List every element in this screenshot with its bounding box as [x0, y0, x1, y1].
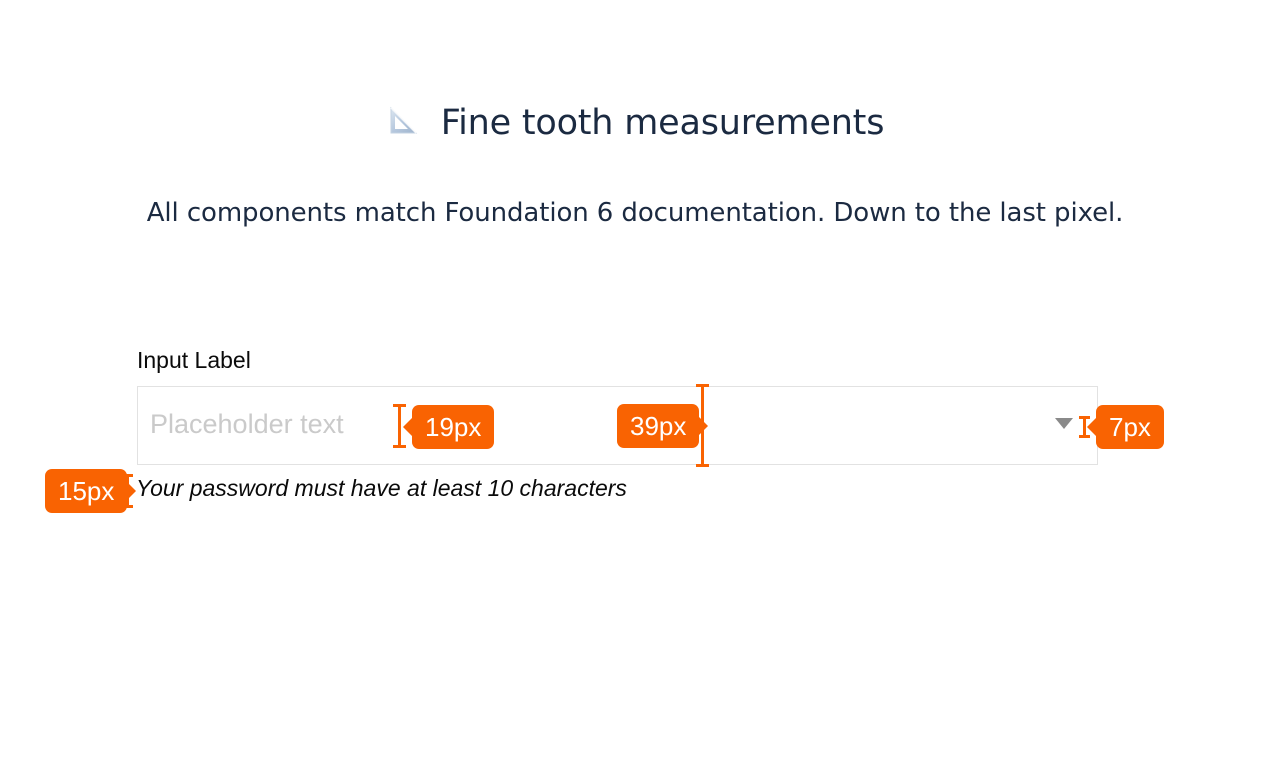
input-specimen: Input Label Placeholder text Your passwo… [0, 0, 1270, 760]
badge-notch-icon [699, 417, 708, 435]
badge-notch-icon [1087, 418, 1096, 436]
input-helper-text: Your password must have at least 10 char… [136, 475, 627, 502]
input-label: Input Label [137, 347, 251, 374]
chevron-down-icon[interactable] [1055, 418, 1073, 429]
input-placeholder-text: Placeholder text [150, 409, 344, 440]
measurement-badge-label: 19px [425, 412, 481, 442]
measurement-badge-helper-text-size: 15px [45, 469, 127, 513]
badge-notch-icon [127, 482, 136, 500]
badge-notch-icon [403, 418, 412, 436]
measurement-badge-input-height: 39px [617, 404, 699, 448]
measurement-badge-placeholder-font-size: 19px [412, 405, 494, 449]
measurement-badge-label: 39px [630, 411, 686, 441]
measurement-badge-caret-size: 7px [1096, 405, 1164, 449]
measurement-badge-label: 15px [58, 476, 114, 506]
measurement-badge-label: 7px [1109, 412, 1151, 442]
